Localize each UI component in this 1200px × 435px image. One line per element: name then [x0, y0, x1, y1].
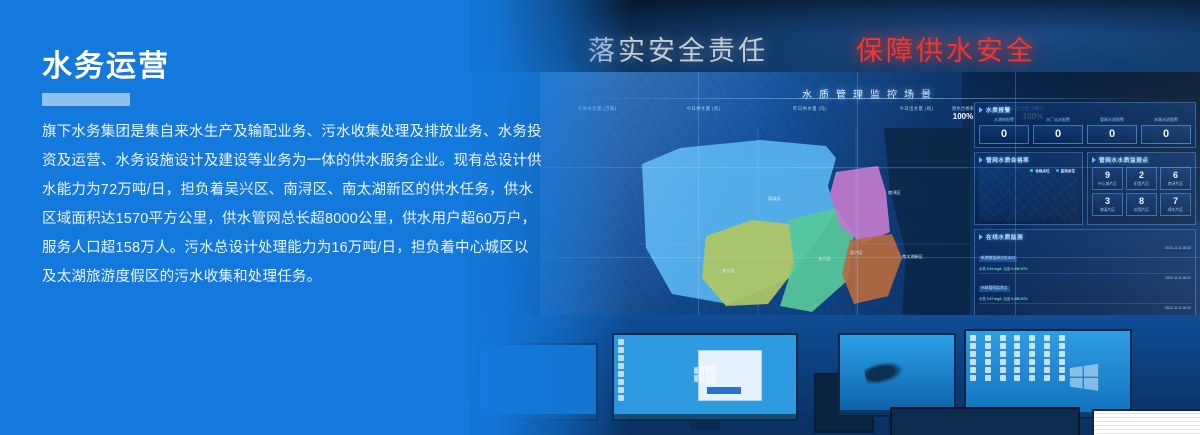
- body-text: 旗下水务集团是集自来水生产及输配业务、污水收集处理及排放业务、水务投资及运营、水…: [42, 118, 542, 292]
- map-region-label: 安吉县: [722, 268, 735, 274]
- point-count: 9: [1093, 171, 1122, 180]
- monitor-5: [838, 333, 956, 417]
- monitoring-point-cell: 3 埭溪片区: [1092, 193, 1123, 216]
- station-time: 2022-11-8 18:22: [1162, 246, 1191, 250]
- kpi-label: 今日供水量 (吨): [656, 106, 750, 112]
- panel-water-quality-alarm: 水质报警 水源地报警 0 水厂出水报警 0: [974, 102, 1196, 148]
- point-label: 埭溪片区: [1093, 208, 1122, 213]
- point-count: 7: [1161, 197, 1190, 206]
- water-operations-banner: 落实安全责任 保障供水安全 水质管理监控场景 年供水总量 (万吨) 今日: [0, 0, 1200, 435]
- station-metrics: 余氯 0.57 mg/L 浊度 0.385 NTU: [979, 296, 1162, 301]
- caret-right-icon: [1092, 157, 1096, 163]
- rate-legend: 合格点位 监测点位: [1030, 169, 1075, 174]
- panel-header: 管网水质合格率: [979, 156, 1078, 164]
- monitor-7: [1092, 409, 1200, 435]
- map-region-label: 南浔区: [888, 190, 901, 196]
- station-time: 2022-11-8 18:21: [1162, 276, 1191, 280]
- station-row: 市政管网监测点 余氯 0.57 mg/L 浊度 0.385 NTU 2022-1…: [979, 274, 1191, 304]
- alarm-card-grid: 水源地报警 0 水厂出水报警 0 管网水质报警 0: [979, 117, 1191, 144]
- kpi-label: 昨日供水量 (吨): [763, 106, 857, 112]
- slogan-right-text: 保障供水安全: [856, 29, 1036, 68]
- legend-label: 监测点位: [1061, 169, 1075, 173]
- point-count: 6: [1161, 171, 1190, 180]
- map-dark-area: [884, 128, 970, 318]
- page-title: 水务运营: [42, 52, 170, 82]
- point-count: 3: [1093, 197, 1122, 206]
- point-label: 妙西片区: [1127, 208, 1156, 213]
- panel-title: 管网水质合格率: [986, 156, 1029, 164]
- panel-title: 在线水质监测: [986, 233, 1023, 241]
- alarm-card: 末端水质报警 0: [1141, 117, 1191, 144]
- point-label: 中心城片区: [1093, 182, 1122, 187]
- alarm-card: 水源地报警 0: [979, 117, 1029, 144]
- panel-monitoring-points: 管网水水质监测点 9 中心城片区 2 织里片区: [1087, 152, 1196, 225]
- monitor-6: [964, 329, 1132, 419]
- map-region-label: 长兴县: [818, 256, 831, 262]
- map-region-brown: [842, 234, 902, 304]
- legend-item: 合格点位: [1030, 169, 1049, 174]
- station-name: 新港路监测点出水口: [979, 256, 1017, 262]
- map-region-label: 吴兴区: [850, 250, 863, 256]
- point-label: 织里片区: [1127, 182, 1156, 187]
- text-content: 水务运营 旗下水务集团是集自来水生产及输配业务、污水收集处理及排放业务、水务投资…: [0, 0, 620, 435]
- station-metrics: 余氯 0.54 mg/L 浊度 0.406 NTU: [979, 266, 1162, 271]
- legend-label: 合格点位: [1035, 169, 1049, 173]
- panel-title: 水质报警: [986, 106, 1011, 114]
- body-paragraph: 旗下水务集团是集自来水生产及输配业务、污水收集处理及排放业务、水务投资及运营、水…: [42, 118, 542, 292]
- metric-key: 浊度: [1003, 267, 1010, 271]
- station-time: 2022-11-8 18:20: [1162, 306, 1191, 310]
- monitoring-point-cell: 2 织里片区: [1126, 167, 1157, 190]
- map-region-label: 德清县: [768, 196, 781, 202]
- monitor-2: [612, 333, 798, 421]
- alarm-card-label: 管网水质报警: [1087, 117, 1137, 123]
- alarm-card: 水厂出水报警 0: [1033, 117, 1083, 144]
- title-underline-bar: [42, 93, 130, 106]
- panel-online-stations: 在线水质监测 新港路监测点出水口 余氯 0.54 mg/L 浊度 0.406 N…: [974, 229, 1196, 322]
- alarm-card-label: 水厂出水报警: [1033, 117, 1083, 123]
- diver-wallpaper: [863, 358, 905, 386]
- station-row: 新港路监测点出水口 余氯 0.54 mg/L 浊度 0.406 NTU 2022…: [979, 244, 1191, 274]
- point-label: 南浔片区: [1161, 182, 1190, 187]
- monitoring-point-cell: 8 妙西片区: [1126, 193, 1157, 216]
- point-count: 2: [1127, 171, 1156, 180]
- monitor-4: [890, 407, 1080, 435]
- rate-map-body: 合格点位 监测点位: [979, 167, 1078, 221]
- video-wall-dashboard: 水质管理监控场景 年供水总量 (万吨) 今日供水量 (吨) 昨日供水量 (吨) …: [540, 72, 1200, 322]
- caret-right-icon: [979, 107, 983, 113]
- panel-network-quality-rate: 管网水质合格率 合格点位 监测点位: [974, 152, 1083, 225]
- point-label: 线东片区: [1161, 208, 1190, 213]
- panel-header: 在线水质监测: [979, 233, 1191, 241]
- station-name: 市政管网监测点: [979, 286, 1010, 292]
- panel-header: 管网水水质监测点: [1092, 156, 1191, 164]
- monitoring-point-cell: 7 线东片区: [1160, 193, 1191, 216]
- panel-title: 管网水水质监测点: [1099, 156, 1149, 164]
- metric-value: 0.54 mg/L: [987, 267, 1003, 271]
- alarm-card-value: 0: [1141, 125, 1191, 144]
- windows-logo-icon: [1067, 361, 1101, 395]
- point-count: 8: [1127, 197, 1156, 206]
- metric-key: 浊度: [1003, 297, 1010, 301]
- metric-value: 0.57 mg/L: [987, 297, 1003, 301]
- legend-item: 监测点位: [1056, 169, 1075, 174]
- alarm-card-value: 0: [979, 125, 1029, 144]
- alarm-card-value: 0: [1033, 125, 1083, 144]
- dialog-window: [698, 350, 762, 401]
- metric-key: 余氯: [979, 267, 986, 271]
- caret-right-icon: [979, 234, 983, 240]
- map-pin-label: 南太湖新区: [902, 254, 923, 260]
- panel-header: 水质报警: [979, 106, 1191, 114]
- dashboard-panel-column: 水质报警 水源地报警 0 水厂出水报警 0: [974, 102, 1196, 318]
- title-rule: [580, 98, 1161, 99]
- metric-value: 0.385 NTU: [1011, 297, 1027, 301]
- metric-key: 余氯: [979, 297, 986, 301]
- desktop-icon-grid: [970, 335, 1072, 381]
- monitoring-point-grid: 9 中心城片区 2 织里片区 6 南浔片区: [1092, 167, 1191, 216]
- district-map: 德清县 安吉县 长兴县 南浔区 吴兴区 南太湖新区: [640, 128, 970, 318]
- map-region-olive: [702, 220, 796, 306]
- monitoring-point-cell: 9 中心城片区: [1092, 167, 1123, 190]
- alarm-card-label: 末端水质报警: [1141, 117, 1191, 123]
- metric-value: 0.406 NTU: [1011, 267, 1027, 271]
- monitoring-point-cell: 6 南浔片区: [1160, 167, 1191, 190]
- alarm-card-value: 0: [1087, 125, 1137, 144]
- alarm-card: 管网水质报警 0: [1087, 117, 1137, 144]
- caret-right-icon: [979, 157, 983, 163]
- alarm-card-label: 水源地报警: [979, 117, 1029, 123]
